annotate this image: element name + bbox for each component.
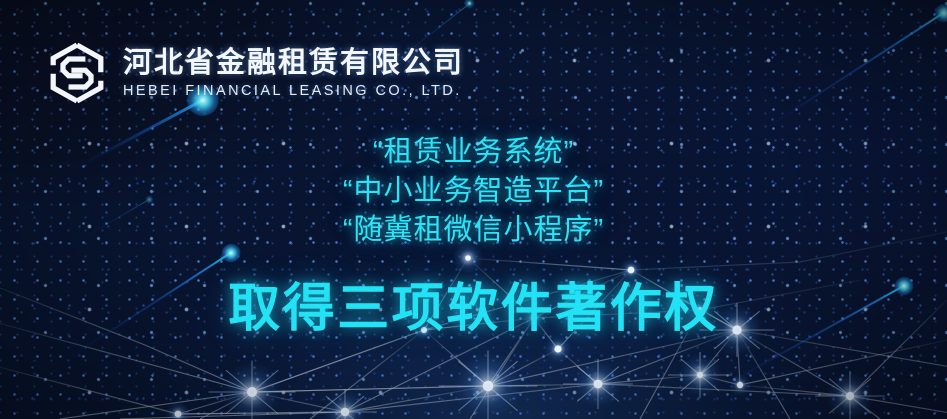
headline: 取得三项软件著作权: [0, 283, 947, 335]
company-logo: 河北省金融租赁有限公司 HEBEI FINANCIAL LEASING CO.,…: [42, 38, 464, 108]
product-name-list: “租赁业务系统” “中小业务智造平台” “随冀租微信小程序”: [0, 133, 947, 250]
interlocking-hexagon-monogram-icon: [42, 38, 112, 108]
product-name-1: “租赁业务系统”: [0, 133, 947, 172]
company-name-en: HEBEI FINANCIAL LEASING CO., LTD.: [123, 82, 464, 100]
certification-banner: 河北省金融租赁有限公司 HEBEI FINANCIAL LEASING CO.,…: [0, 0, 947, 419]
product-name-2: “中小业务智造平台”: [0, 172, 947, 211]
company-name-cn: 河北省金融租赁有限公司: [123, 48, 464, 78]
product-name-3: “随冀租微信小程序”: [0, 211, 947, 250]
